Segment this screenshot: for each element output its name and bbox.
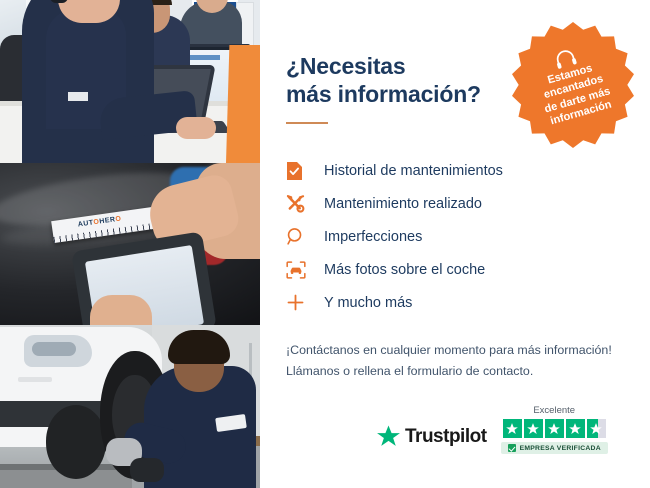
feature-label: Historial de mantenimientos — [324, 163, 503, 179]
magnifier-icon — [286, 226, 312, 248]
trustpilot-star-icon — [376, 424, 401, 449]
tools-icon — [286, 193, 312, 215]
trustpilot-wordmark: Trustpilot — [405, 426, 487, 448]
verified-business-badge: EMPRESA VERIFICADA — [501, 442, 608, 454]
contact-paragraph-line-1: ¡Contáctanos en cualquier momento para m… — [286, 343, 612, 357]
trustpilot-star-1 — [503, 419, 522, 438]
trustpilot-star-5-partial — [587, 419, 606, 438]
call-center-agent-photo — [0, 0, 260, 163]
agent-name-badge — [68, 92, 88, 101]
mechanic-hair — [168, 330, 230, 364]
feature-item-imperfecciones[interactable]: Imperfecciones — [286, 220, 626, 253]
feature-label: Mantenimiento realizado — [324, 196, 482, 212]
trustpilot-rating: Excelente — [501, 405, 608, 454]
info-card: AUTOHERO — [0, 0, 650, 488]
trustpilot-logo: Trustpilot — [376, 424, 487, 454]
feature-label: Y mucho más — [324, 295, 412, 311]
car-badge — [18, 377, 52, 382]
feature-label: Imperfecciones — [324, 229, 422, 245]
page-title-line-2: más información? — [286, 81, 481, 107]
content-panel: ¿Necesitas más información? Estamos enca… — [260, 0, 650, 488]
trustpilot-block[interactable]: Trustpilot Excelente — [376, 405, 608, 454]
autohero-ruler-label: AUTOHERO — [77, 215, 121, 228]
title-underline — [286, 122, 328, 124]
rear-tire — [46, 405, 106, 479]
support-badge: Estamos encantados de darte más informac… — [510, 22, 636, 148]
car-headlight — [24, 335, 92, 367]
verified-business-label: EMPRESA VERIFICADA — [520, 445, 601, 452]
plus-icon — [286, 292, 312, 314]
orange-equipment — [226, 45, 260, 163]
contact-paragraph-line-2: Llámanos o rellena el formulario de cont… — [286, 364, 533, 378]
feature-item-fotos[interactable]: Más fotos sobre el coche — [286, 253, 626, 286]
document-check-icon — [286, 160, 312, 182]
page-title-line-1: ¿Necesitas — [286, 53, 405, 79]
badge-content: Estamos encantados de darte más informac… — [495, 7, 650, 163]
feature-item-mas[interactable]: Y mucho más — [286, 286, 626, 319]
car-scan-icon — [286, 259, 312, 281]
agent-hand — [176, 117, 216, 139]
contact-paragraph: ¡Contáctanos en cualquier momento para m… — [286, 340, 626, 381]
trustpilot-stars — [503, 419, 606, 438]
inspector-hand-holding-tablet — [90, 295, 152, 325]
feature-item-historial[interactable]: Historial de mantenimientos — [286, 154, 626, 187]
agent-body — [22, 0, 154, 163]
mechanic-tool — [130, 458, 164, 482]
verified-check-icon — [508, 444, 516, 452]
page-title: ¿Necesitas más información? — [286, 52, 536, 108]
trustpilot-rating-label: Excelente — [533, 405, 575, 416]
trustpilot-star-4 — [566, 419, 585, 438]
feature-label: Más fotos sobre el coche — [324, 262, 485, 278]
photo-column: AUTOHERO — [0, 0, 260, 488]
mechanic-tire-photo — [0, 325, 260, 488]
feature-item-mantenimiento[interactable]: Mantenimiento realizado — [286, 187, 626, 220]
car-inspection-ruler-photo: AUTOHERO — [0, 163, 260, 325]
trustpilot-star-3 — [545, 419, 564, 438]
trustpilot-star-2 — [524, 419, 543, 438]
feature-list: Historial de mantenimientos Mantenimient… — [286, 154, 626, 319]
